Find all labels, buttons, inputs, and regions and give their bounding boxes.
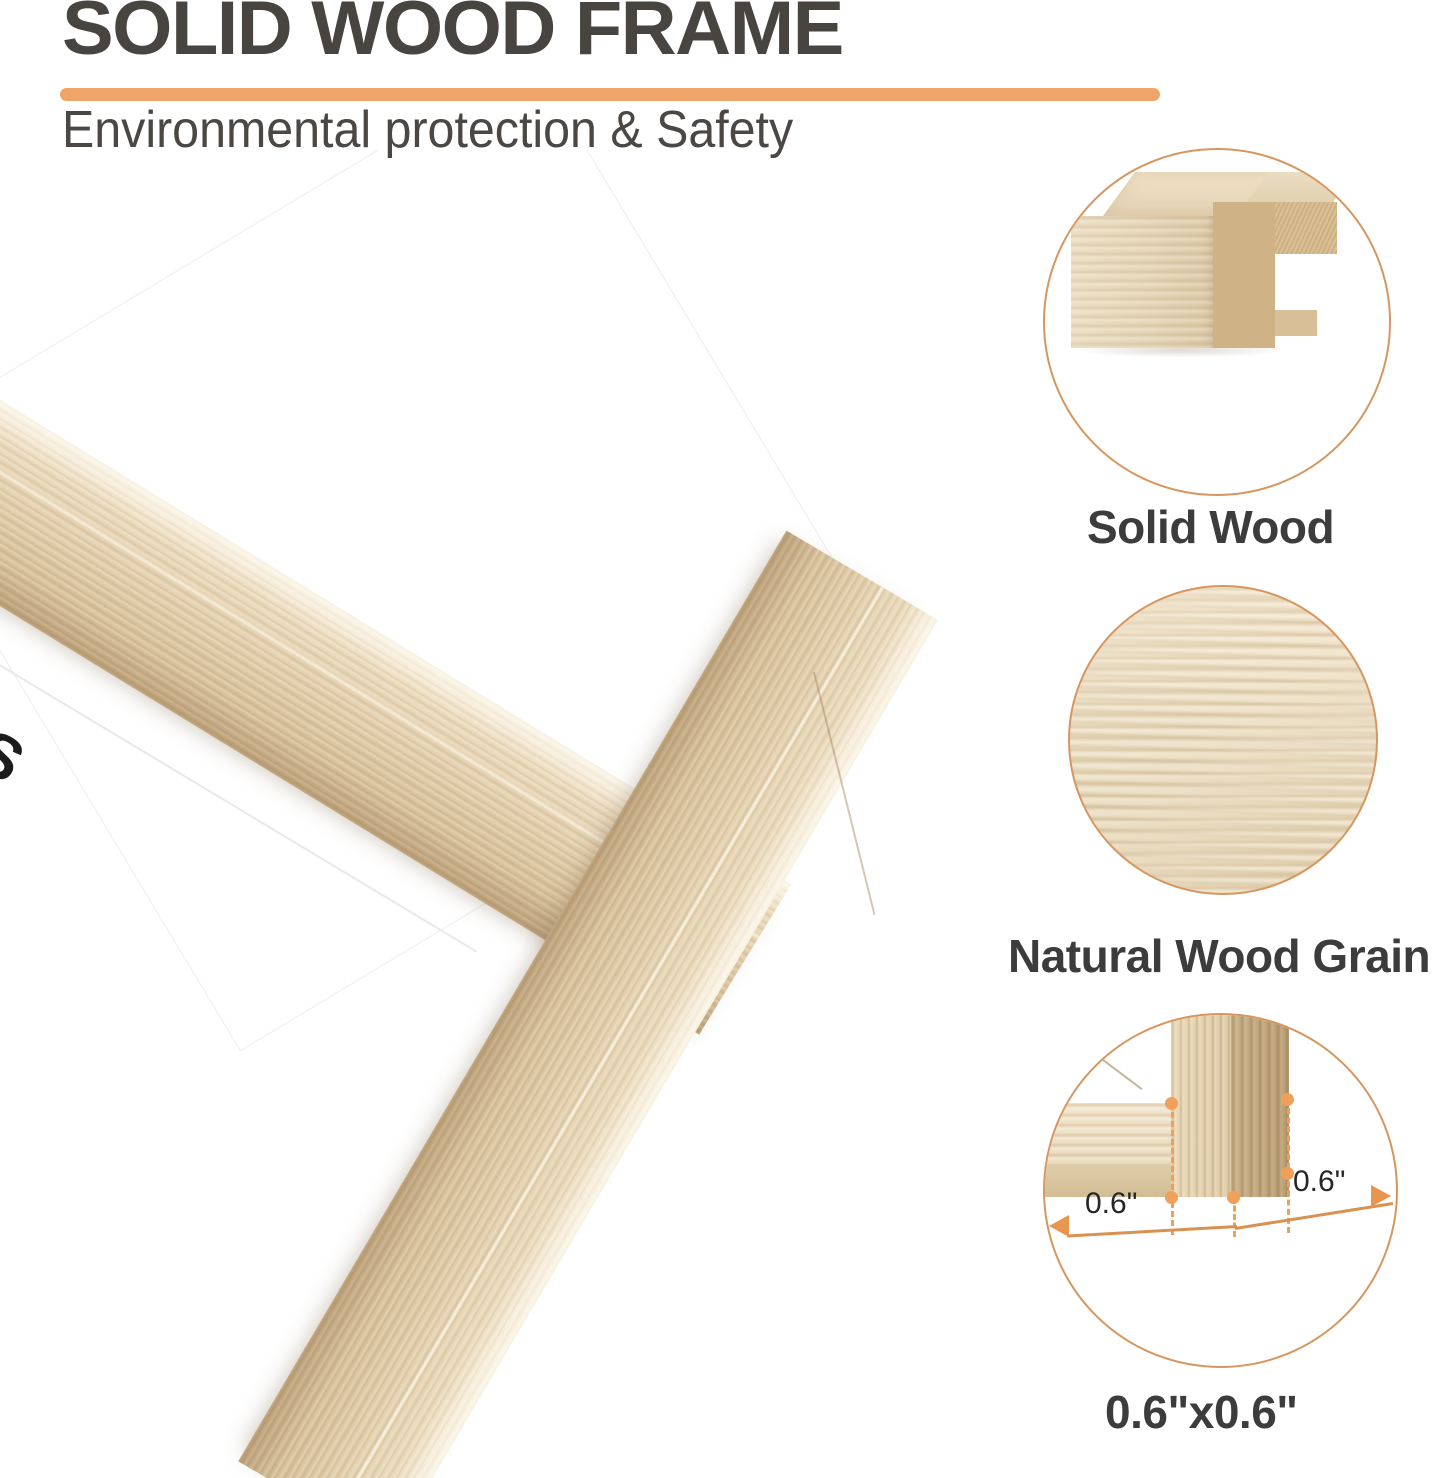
- dimension-line-right: [1235, 1202, 1393, 1230]
- callout-dimensions: 0.6" 0.6" 0.6"x0.6": [990, 1013, 1445, 1478]
- page-subtitle: Environmental protection & Safety: [62, 103, 793, 158]
- dimension-line-left: [1067, 1225, 1237, 1237]
- corner-vertical-rail-face: [1231, 1013, 1289, 1197]
- callout-solid-wood: Solid Wood: [1035, 148, 1445, 558]
- frame-corner-photo: ES: [0, 150, 1010, 1478]
- dimension-leader: [1233, 1197, 1236, 1237]
- header: SOLID WOOD FRAME Environmental protectio…: [0, 0, 1050, 160]
- dimension-leader: [1171, 1103, 1174, 1235]
- dimension-value-right: 0.6": [1293, 1165, 1345, 1199]
- callout-natural-wood-grain: Natural Wood Grain: [1008, 585, 1445, 995]
- dimension-leader: [1287, 1099, 1290, 1233]
- dimension-value-left: 0.6": [1085, 1187, 1137, 1221]
- mat-text-fragment: ES: [0, 695, 35, 797]
- callout-label-natural-wood-grain: Natural Wood Grain: [1008, 929, 1430, 983]
- callout-label-dimensions: 0.6"x0.6": [1105, 1385, 1298, 1439]
- dimensions-circle: 0.6" 0.6": [1043, 1013, 1398, 1368]
- corner-mitre-line: [1044, 1015, 1143, 1090]
- dimension-arrow-right: [1371, 1185, 1391, 1207]
- solid-wood-circle: [1043, 148, 1391, 496]
- wood-grain-swatch-circle: [1068, 585, 1378, 895]
- block-rabbet-lower: [1275, 310, 1317, 336]
- corner-vertical-rail: [1171, 1013, 1233, 1197]
- block-rabbet-upper: [1275, 202, 1337, 254]
- page-title: SOLID WOOD FRAME: [62, 0, 843, 67]
- callout-label-solid-wood: Solid Wood: [1087, 500, 1334, 554]
- block-front-face: [1071, 216, 1213, 348]
- dimension-arrow-left: [1049, 1215, 1069, 1237]
- block-end-grain: [1213, 202, 1275, 348]
- title-accent-rule: [60, 88, 1160, 101]
- product-feature-infographic: SOLID WOOD FRAME Environmental protectio…: [0, 0, 1445, 1478]
